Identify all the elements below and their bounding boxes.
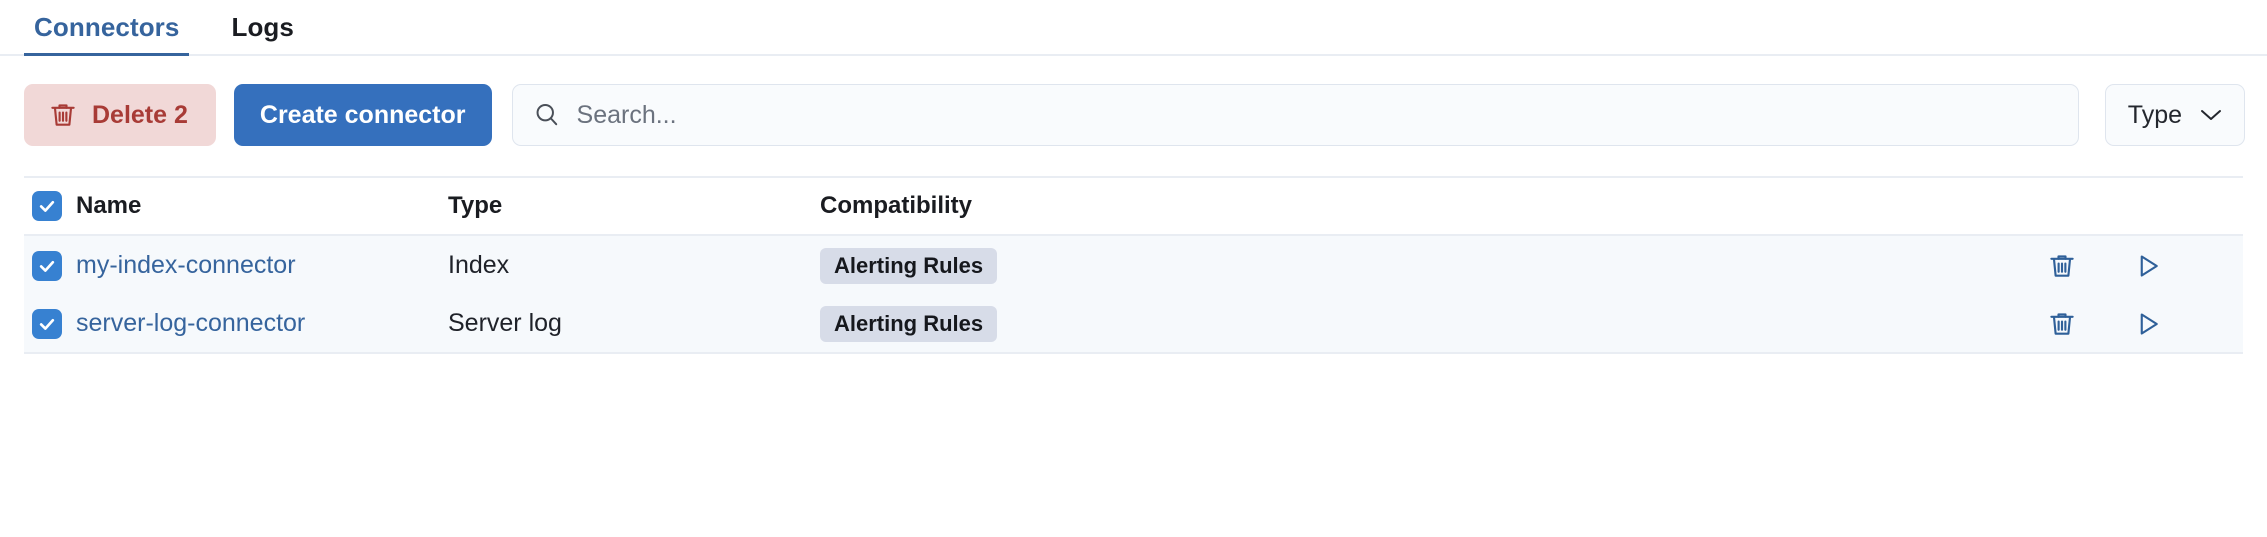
search-input[interactable] (577, 101, 2058, 130)
check-icon (37, 314, 57, 334)
connector-name-link[interactable]: my-index-connector (76, 251, 296, 279)
tabs-bar: Connectors Logs (0, 0, 2267, 56)
check-icon (37, 256, 57, 276)
row-checkbox[interactable] (32, 251, 62, 281)
select-all-checkbox[interactable] (32, 191, 62, 221)
cell-compatibility: Alerting Rules (820, 248, 2043, 284)
connector-name-link[interactable]: server-log-connector (76, 309, 305, 337)
cell-type: Index (448, 251, 820, 280)
connectors-table: Name Type Compatibility my-index-connect… (24, 176, 2243, 354)
table-header-row: Name Type Compatibility (24, 178, 2243, 236)
create-connector-label: Create connector (260, 101, 466, 130)
table-row[interactable]: my-index-connector Index Alerting Rules (24, 236, 2243, 295)
play-icon (2133, 309, 2163, 339)
tab-logs[interactable]: Logs (221, 14, 304, 54)
row-actions (2043, 305, 2243, 343)
row-select-cell (24, 309, 76, 339)
compatibility-badge: Alerting Rules (820, 306, 997, 342)
row-actions (2043, 247, 2243, 285)
create-connector-button[interactable]: Create connector (234, 84, 492, 146)
trash-icon (2047, 309, 2077, 339)
column-header-type[interactable]: Type (448, 192, 820, 220)
tab-connectors[interactable]: Connectors (24, 14, 189, 54)
run-row-button[interactable] (2129, 247, 2167, 285)
delete-row-button[interactable] (2043, 247, 2081, 285)
type-filter-button[interactable]: Type (2105, 84, 2245, 146)
cell-type: Server log (448, 309, 820, 338)
cell-name: server-log-connector (76, 309, 448, 338)
select-all-cell (24, 191, 76, 221)
search-box[interactable] (512, 84, 2079, 146)
trash-icon (48, 100, 78, 130)
delete-button[interactable]: Delete 2 (24, 84, 216, 146)
delete-button-label: Delete 2 (92, 101, 188, 130)
cell-name: my-index-connector (76, 251, 448, 280)
tab-connectors-label: Connectors (34, 12, 179, 42)
row-select-cell (24, 251, 76, 281)
tab-logs-label: Logs (231, 12, 294, 42)
delete-row-button[interactable] (2043, 305, 2081, 343)
cell-compatibility: Alerting Rules (820, 306, 2043, 342)
toolbar: Delete 2 Create connector Type (0, 56, 2267, 146)
type-filter-label: Type (2128, 101, 2182, 130)
search-icon (533, 101, 577, 129)
play-icon (2133, 251, 2163, 281)
column-header-name[interactable]: Name (76, 192, 448, 220)
run-row-button[interactable] (2129, 305, 2167, 343)
row-checkbox[interactable] (32, 309, 62, 339)
tab-list: Connectors Logs (0, 0, 2267, 54)
table-row[interactable]: server-log-connector Server log Alerting… (24, 295, 2243, 354)
trash-icon (2047, 251, 2077, 281)
column-header-compatibility[interactable]: Compatibility (820, 192, 2043, 220)
compatibility-badge: Alerting Rules (820, 248, 997, 284)
check-icon (37, 196, 57, 216)
chevron-down-icon (2200, 108, 2222, 122)
